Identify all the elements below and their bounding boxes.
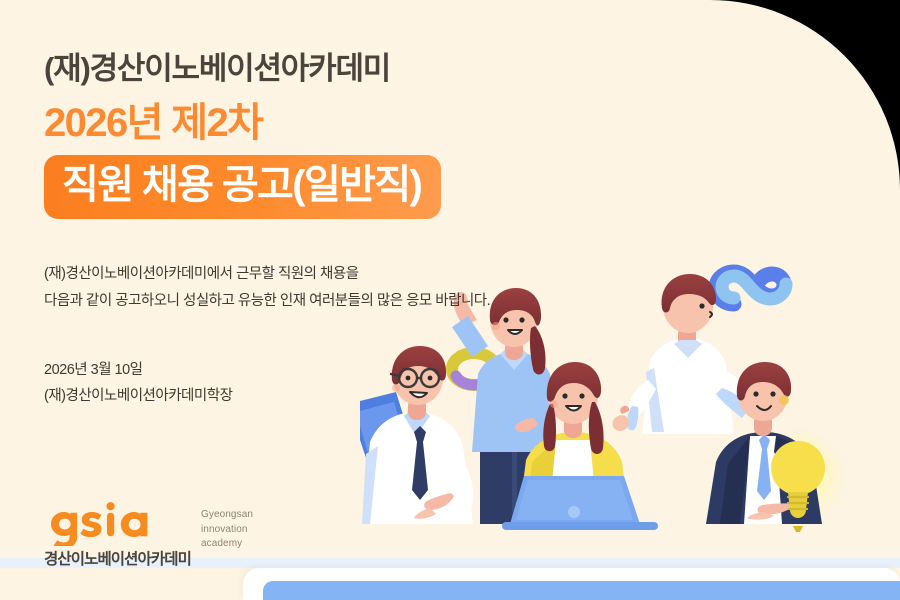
bottom-panel (243, 568, 900, 600)
logo-area: 경산이노베이션아카데미 Gyeongsan innovation academy (44, 502, 253, 569)
logo-english-name: Gyeongsan innovation academy (201, 508, 253, 552)
headline-text: 직원 채용 공고(일반직) (62, 164, 421, 207)
logo-korean-name: 경산이노베이션아카데미 (44, 547, 191, 569)
signature-block: 2026년 3월 10일 (재)경산이노베이션아카데미학장 (44, 357, 564, 411)
body-copy: (재)경산이노베이션아카데미에서 근무할 직원의 채용을 다음과 같이 공고하오… (44, 261, 564, 315)
body-line-2: 다음과 같이 공고하오니 성실하고 유능한 인재 여러분들의 많은 응모 바랍니… (44, 288, 564, 315)
organization-name: (재)경산이노베이션아카데미 (44, 52, 564, 87)
logo-left-column: 경산이노베이션아카데미 (44, 502, 191, 569)
bottom-blue-bar (263, 581, 900, 600)
logo-en-line-1: Gyeongsan (201, 508, 253, 523)
infinity-icon (716, 272, 786, 304)
headline-highlight-box: 직원 채용 공고(일반직) (44, 155, 441, 219)
logo-en-line-3: academy (201, 537, 253, 552)
poster-canvas: (재)경산이노베이션아카데미 2026년 제2차 직원 채용 공고(일반직) (… (0, 0, 900, 600)
year-subtitle: 2026년 제2차 (44, 101, 564, 145)
logo-en-line-2: innovation (201, 523, 253, 538)
announcement-date: 2026년 3월 10일 (44, 357, 564, 384)
gsia-logo-icon (44, 502, 168, 546)
body-line-1: (재)경산이노베이션아카데미에서 근무할 직원의 채용을 (44, 261, 564, 288)
signer-name: (재)경산이노베이션아카데미학장 (44, 383, 564, 410)
text-block: (재)경산이노베이션아카데미 2026년 제2차 직원 채용 공고(일반직) (… (44, 52, 564, 410)
